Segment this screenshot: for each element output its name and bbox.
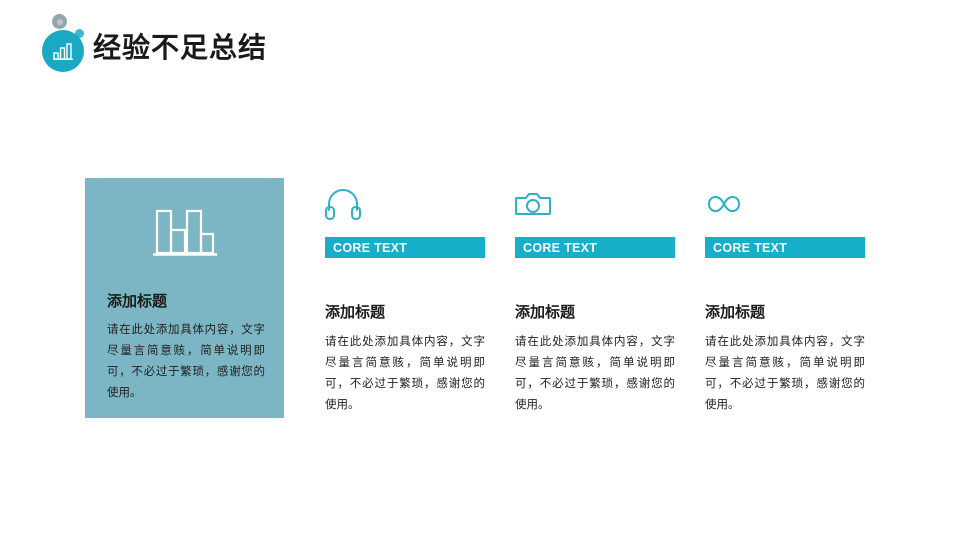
panel-icon-wrap	[85, 205, 284, 261]
column-text: 请在此处添加具体内容，文字尽量言简意赅，简单说明即可，不必过于繁琐，感谢您的使用…	[705, 331, 865, 415]
panel-body: 添加标题 请在此处添加具体内容，文字尽量言简意赅，简单说明即可，不必过于繁琐，感…	[107, 290, 265, 403]
feature-panel: 添加标题 请在此处添加具体内容，文字尽量言简意赅，简单说明即可，不必过于繁琐，感…	[85, 178, 284, 418]
slide-header: 经验不足总结	[0, 0, 960, 100]
column-text: 请在此处添加具体内容，文字尽量言简意赅，简单说明即可，不必过于繁琐，感谢您的使用…	[325, 331, 485, 415]
core-text-banner: CORE TEXT	[515, 237, 675, 258]
slide-canvas: 经验不足总结 添加标题 请在此处添加具体内容，文字尽量言简意赅，简单说明即可，不…	[0, 0, 960, 540]
column-title: 添加标题	[705, 301, 865, 322]
bar-chart-icon	[52, 41, 74, 61]
column-title: 添加标题	[515, 301, 675, 322]
logo-accent-dot-large-icon	[52, 14, 67, 29]
column-title: 添加标题	[325, 301, 485, 322]
infinity-icon	[705, 192, 743, 216]
feature-column-2: CORE TEXT 添加标题 请在此处添加具体内容，文字尽量言简意赅，简单说明即…	[515, 178, 675, 415]
panel-text: 请在此处添加具体内容，文字尽量言简意赅，简单说明即可，不必过于繁琐，感谢您的使用…	[107, 319, 265, 403]
column-icon-wrap	[515, 178, 675, 230]
core-text-banner-label: CORE TEXT	[523, 241, 597, 255]
core-text-banner-label: CORE TEXT	[333, 241, 407, 255]
core-text-banner: CORE TEXT	[325, 237, 485, 258]
core-text-banner: CORE TEXT	[705, 237, 865, 258]
page-title: 经验不足总结	[93, 26, 267, 66]
camera-icon	[515, 189, 551, 219]
feature-column-3: CORE TEXT 添加标题 请在此处添加具体内容，文字尽量言简意赅，简单说明即…	[705, 178, 865, 415]
column-text: 请在此处添加具体内容，文字尽量言简意赅，简单说明即可，不必过于繁琐，感谢您的使用…	[515, 331, 675, 415]
headphones-icon	[325, 187, 361, 221]
column-icon-wrap	[705, 178, 865, 230]
core-text-banner-label: CORE TEXT	[713, 241, 787, 255]
column-icon-wrap	[325, 178, 485, 230]
feature-column-1: CORE TEXT 添加标题 请在此处添加具体内容，文字尽量言简意赅，简单说明即…	[325, 178, 485, 415]
header-logo	[38, 14, 90, 76]
logo-circle	[42, 30, 84, 72]
bar-chart-icon	[148, 205, 222, 261]
panel-title: 添加标题	[107, 290, 265, 311]
